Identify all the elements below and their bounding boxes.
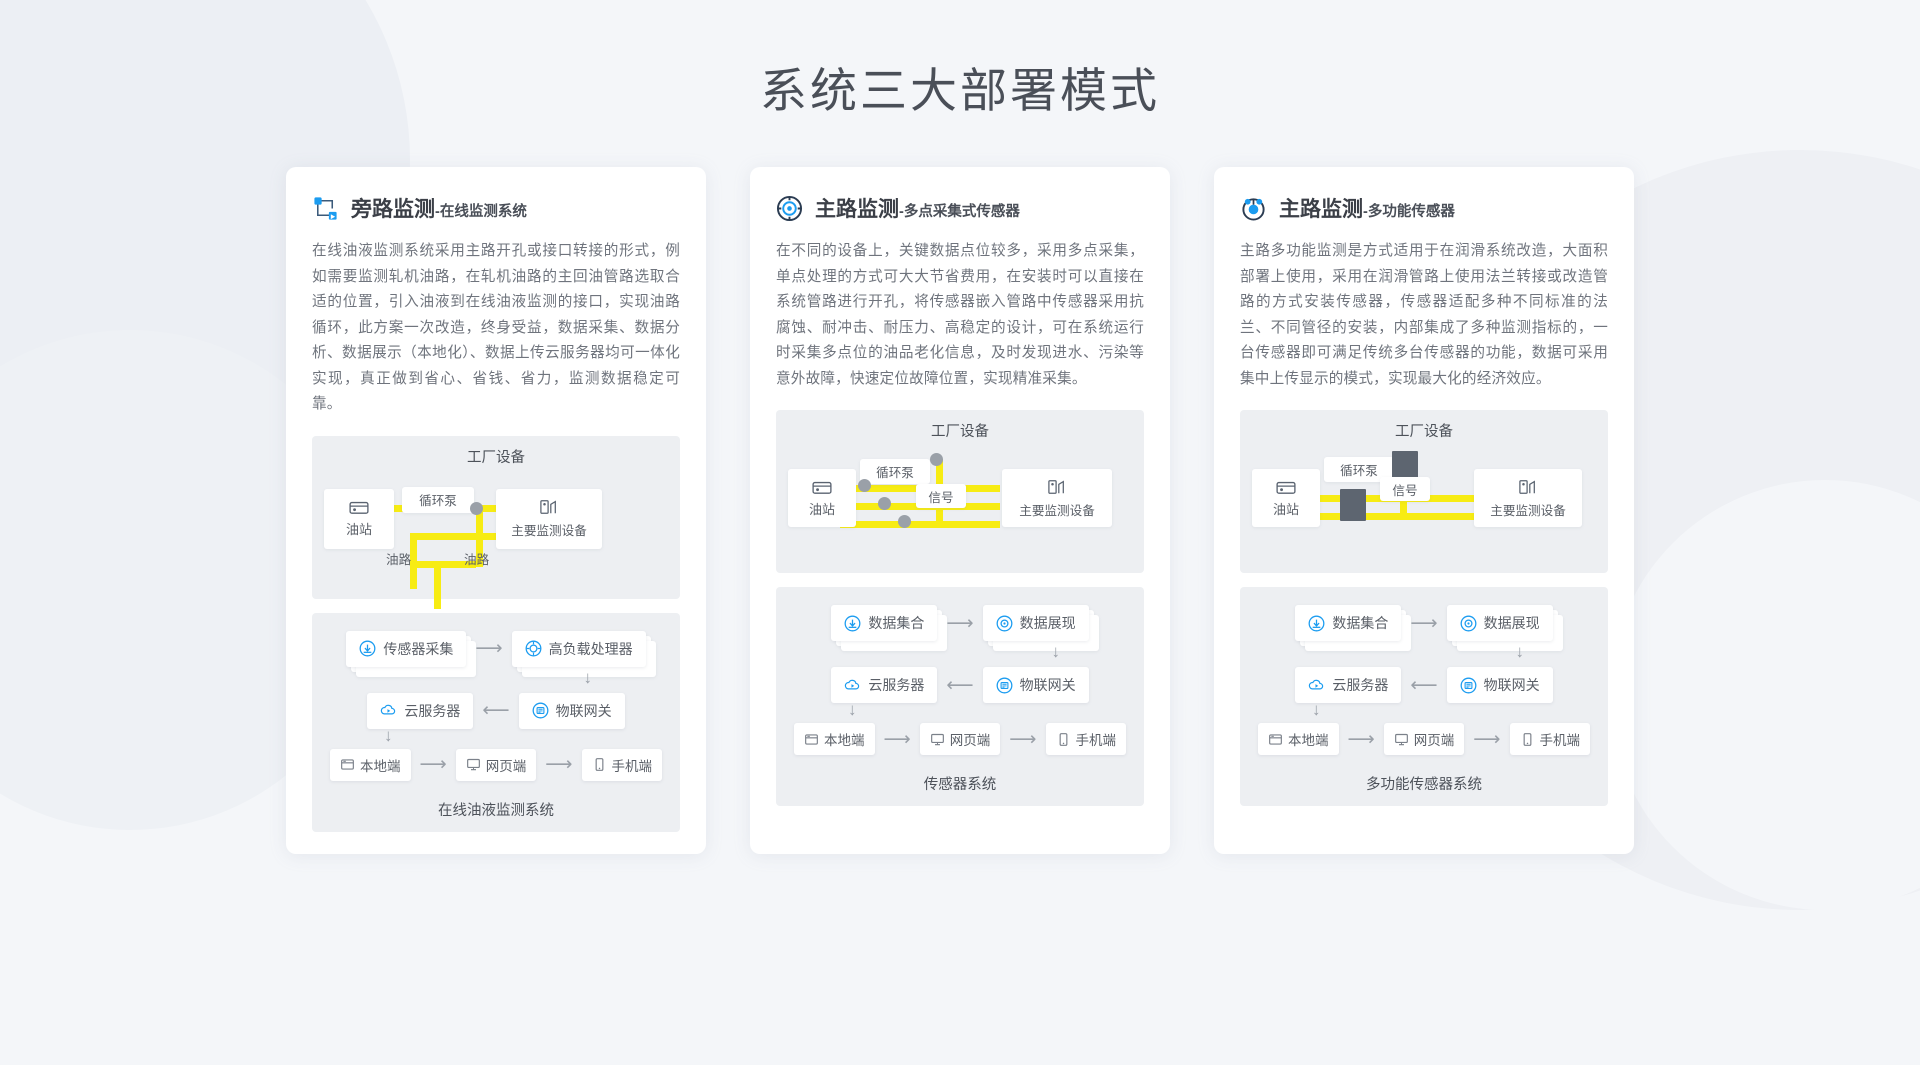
oil-station-icon: [1275, 479, 1297, 495]
flow-node-processor[interactable]: 高负载处理器: [512, 631, 646, 667]
web-terminal-icon: [466, 757, 481, 772]
flow-row-1: 数据集合 ⟶ 数据展现: [790, 605, 1130, 641]
oil-route-label-left: 油路: [386, 549, 411, 568]
web-terminal-icon: [1394, 732, 1409, 747]
arrow-left-icon: ⟵: [473, 701, 518, 720]
flow-node-label: 物联网关: [556, 701, 612, 721]
mobile-terminal-icon: [1520, 732, 1535, 747]
flow-row-2: ↓ 云服务器 ⟵: [790, 667, 1130, 703]
flow-row-1: 数据集合 ⟶ 数据展现: [1254, 605, 1594, 641]
oil-pipe-bottom: [1304, 513, 1482, 520]
card-description: 在线油液监测系统采用主路开孔或接口转接的形式，例如需要监测轧机油路，在轧机油路的…: [312, 239, 680, 418]
terminal-local[interactable]: 本地端: [1258, 723, 1339, 755]
arrow-left-icon: ⟵: [1401, 676, 1446, 695]
multifunction-sensor-icon: [1240, 195, 1267, 222]
oil-route-label-right: 油路: [464, 549, 489, 568]
flow-row-3: ↓ 本地端 ⟶: [1254, 723, 1594, 755]
flow-node-label: 云服务器: [868, 675, 924, 695]
card-title-sub: -在线监测系统: [435, 200, 527, 221]
flow-node-data-collect[interactable]: 数据集合: [831, 605, 937, 641]
pipe-sensor-dot: [898, 515, 911, 528]
circulation-pump-box[interactable]: 循环泵: [402, 487, 474, 513]
arrow-down-icon: ↓: [848, 701, 857, 718]
flow-node-data-display[interactable]: 数据展现: [1447, 605, 1553, 641]
flow-diagram: 数据集合 ⟶ 数据展现 ↓: [1240, 587, 1608, 806]
mobile-terminal-icon: [1056, 732, 1071, 747]
card-description: 在不同的设备上，关键数据点位较多，采用多点采集，单点处理的方式可大大节省费用，在…: [776, 239, 1144, 392]
flow-node-label: 传感器采集: [383, 639, 453, 659]
card-title: 旁路监测 -在线监测系统: [351, 193, 527, 223]
oil-station-label: 油站: [1273, 499, 1299, 518]
flow-row-3: ↓ 本地端 ⟶: [790, 723, 1130, 755]
arrow-down-icon: ↓: [1516, 643, 1525, 660]
factory-diagram: 工厂设备 油站 循环泵: [1240, 410, 1608, 573]
flow-node-data-collect[interactable]: 数据集合: [1295, 605, 1401, 641]
factory-label: 工厂设备: [1252, 420, 1596, 441]
flow-node-label: 物联网关: [1484, 675, 1540, 695]
terminal-mobile[interactable]: 手机端: [1510, 723, 1591, 755]
oil-station-box[interactable]: 油站: [324, 489, 394, 549]
flow-node-sensor-collect[interactable]: 传感器采集: [346, 631, 466, 667]
card-title-main: 旁路监测: [351, 193, 435, 223]
data-display-icon: [996, 615, 1013, 632]
oil-station-icon: [811, 479, 833, 495]
flow-node-label: 数据展现: [1020, 613, 1076, 633]
terminal-mobile[interactable]: 手机端: [582, 749, 663, 781]
circulation-pump-label: 循环泵: [876, 462, 914, 481]
main-monitor-device-label: 主要监测设备: [1019, 500, 1095, 519]
card-title-main: 主路监测: [1279, 193, 1363, 223]
flow-node-cloud-server[interactable]: 云服务器: [831, 667, 937, 703]
flow-node-label: 数据集合: [868, 613, 924, 633]
flow-node-label: 高负载处理器: [549, 639, 633, 659]
system-name: 传感器系统: [790, 773, 1130, 794]
multifunction-sensor-block: [1340, 489, 1366, 521]
pipe-sensor-dot: [878, 497, 891, 510]
card-bypass-monitoring[interactable]: 旁路监测 -在线监测系统 在线油液监测系统采用主路开孔或接口转接的形式，例如需要…: [286, 167, 706, 854]
local-terminal-icon: [1268, 732, 1283, 747]
arrow-down-icon: ↓: [1052, 643, 1061, 660]
factory-canvas: 油站 循环泵 主要监测设备 油路: [324, 477, 668, 585]
main-monitor-device-box[interactable]: 主要监测设备: [1474, 469, 1582, 527]
terminal-label: 本地端: [360, 755, 401, 775]
flow-node-label: 数据展现: [1484, 613, 1540, 633]
arrow-right-icon: ⟶: [1401, 614, 1446, 633]
flow-diagram: 传感器采集 ⟶ 高负载处理器 ↓: [312, 613, 680, 832]
arrow-right-icon: ⟶: [536, 755, 581, 774]
card-title: 主路监测 -多点采集式传感器: [815, 193, 1020, 223]
card-mainline-multifunction[interactable]: 主路监测 -多功能传感器 主路多功能监测是方式适用于在润滑系统改造，大面积部署上…: [1214, 167, 1634, 854]
sensor-collect-icon: [359, 640, 376, 657]
monitor-device-icon: [1046, 478, 1068, 496]
factory-label: 工厂设备: [788, 420, 1132, 441]
circulation-pump-label: 循环泵: [419, 490, 457, 509]
page-title: 系统三大部署模式: [0, 0, 1920, 121]
signal-box[interactable]: 信号: [916, 484, 966, 508]
terminal-label: 手机端: [612, 755, 653, 775]
terminal-label: 手机端: [1076, 729, 1117, 749]
local-terminal-icon: [804, 732, 819, 747]
card-mainline-multipoint[interactable]: 主路监测 -多点采集式传感器 在不同的设备上，关键数据点位较多，采用多点采集，单…: [750, 167, 1170, 854]
flow-node-label: 云服务器: [404, 701, 460, 721]
card-description: 主路多功能监测是方式适用于在润滑系统改造，大面积部署上使用，采用在润滑管路上使用…: [1240, 239, 1608, 392]
oil-station-icon: [348, 499, 370, 515]
terminal-local[interactable]: 本地端: [794, 723, 875, 755]
data-display-icon: [1460, 615, 1477, 632]
main-monitor-device-box[interactable]: 主要监测设备: [496, 489, 602, 549]
flow-diagram: 数据集合 ⟶ 数据展现 ↓: [776, 587, 1144, 806]
system-name: 在线油液监测系统: [326, 799, 666, 820]
terminal-web[interactable]: 网页端: [920, 723, 1001, 755]
card-title-sub: -多点采集式传感器: [899, 200, 1020, 221]
oil-station-box[interactable]: 油站: [788, 469, 856, 527]
system-name: 多功能传感器系统: [1254, 773, 1594, 794]
mobile-terminal-icon: [592, 757, 607, 772]
pipe-sensor-dot: [930, 453, 943, 466]
oil-station-box[interactable]: 油站: [1252, 469, 1320, 527]
main-monitor-device-label: 主要监测设备: [1490, 500, 1566, 519]
flow-row-2: ↓ 云服务器 ⟵: [326, 693, 666, 729]
circulation-pump-box[interactable]: 循环泵: [860, 459, 930, 484]
card-header: 主路监测 -多功能传感器: [1240, 193, 1608, 223]
main-monitor-device-box[interactable]: 主要监测设备: [1002, 469, 1112, 527]
circulation-pump-label: 循环泵: [1340, 460, 1378, 479]
flow-node-iot-gateway[interactable]: 物联网关: [1447, 667, 1553, 703]
cards-container: 旁路监测 -在线监测系统 在线油液监测系统采用主路开孔或接口转接的形式，例如需要…: [0, 167, 1920, 854]
factory-canvas: 油站 循环泵 信号 主要监测设备: [788, 451, 1132, 559]
arrow-right-icon: ⟶: [466, 639, 511, 658]
terminal-mobile[interactable]: 手机端: [1046, 723, 1127, 755]
arrow-down-icon: ↓: [384, 727, 393, 744]
factory-canvas: 油站 循环泵 信号 主要监测设备: [1252, 451, 1596, 559]
terminal-label: 网页端: [1414, 729, 1455, 749]
terminal-web[interactable]: 网页端: [456, 749, 537, 781]
arrow-right-icon: ⟶: [1000, 730, 1045, 749]
flow-node-iot-gateway[interactable]: 物联网关: [983, 667, 1089, 703]
cloud-server-icon: [1308, 677, 1325, 694]
factory-label: 工厂设备: [324, 446, 668, 467]
flow-node-cloud-server[interactable]: 云服务器: [367, 693, 473, 729]
card-title-sub: -多功能传感器: [1363, 200, 1455, 221]
terminal-local[interactable]: 本地端: [330, 749, 411, 781]
signal-box[interactable]: 信号: [1380, 477, 1430, 501]
oil-station-label: 油站: [346, 519, 372, 538]
monitor-device-icon: [1517, 478, 1539, 496]
arrow-left-icon: ⟵: [937, 676, 982, 695]
terminal-label: 手机端: [1540, 729, 1581, 749]
terminal-label: 网页端: [950, 729, 991, 749]
factory-diagram: 工厂设备 油站 循环泵: [776, 410, 1144, 573]
signal-label: 信号: [1392, 480, 1417, 499]
pipe-sensor-dot: [858, 479, 871, 492]
arrow-down-icon: ↓: [1312, 701, 1321, 718]
cloud-server-icon: [844, 677, 861, 694]
card-header: 主路监测 -多点采集式传感器: [776, 193, 1144, 223]
data-collect-icon: [1308, 615, 1325, 632]
flow-row-3: ↓ 本地端 ⟶: [326, 749, 666, 781]
data-collect-icon: [844, 615, 861, 632]
main-monitor-device-label: 主要监测设备: [511, 520, 587, 539]
iot-gateway-icon: [532, 702, 549, 719]
target-circle-icon: [776, 195, 803, 222]
signal-label: 信号: [928, 487, 953, 506]
terminal-label: 网页端: [486, 755, 527, 775]
card-header: 旁路监测 -在线监测系统: [312, 193, 680, 223]
card-title-main: 主路监测: [815, 193, 899, 223]
flow-node-iot-gateway[interactable]: 物联网关: [519, 693, 625, 729]
factory-diagram: 工厂设备 油站: [312, 436, 680, 599]
flow-node-label: 云服务器: [1332, 675, 1388, 695]
arrow-right-icon: ⟶: [937, 614, 982, 633]
oil-station-label: 油站: [809, 499, 835, 518]
local-terminal-icon: [340, 757, 355, 772]
flow-row-2: ↓ 云服务器 ⟵: [1254, 667, 1594, 703]
arrow-right-icon: ⟶: [875, 730, 920, 749]
arrow-right-icon: ⟶: [1339, 730, 1384, 749]
flow-node-label: 数据集合: [1332, 613, 1388, 633]
terminal-label: 本地端: [824, 729, 865, 749]
page-root: 系统三大部署模式 旁路监测 -在线监测系统 在线油液监测系统采用主路开孔或接口转…: [0, 0, 1920, 1065]
iot-gateway-icon: [1460, 677, 1477, 694]
bypass-branch-icon: [312, 195, 339, 222]
monitor-device-icon: [538, 498, 560, 516]
iot-gateway-icon: [996, 677, 1013, 694]
arrow-right-icon: ⟶: [1464, 730, 1509, 749]
cloud-server-icon: [380, 702, 397, 719]
pipe-junction-dot: [470, 502, 483, 515]
terminal-web[interactable]: 网页端: [1384, 723, 1465, 755]
oil-pipe-bottom: [840, 521, 1000, 528]
flow-node-label: 物联网关: [1020, 675, 1076, 695]
oil-pipe-return: [434, 561, 441, 609]
arrow-down-icon: ↓: [584, 669, 593, 686]
processor-icon: [525, 640, 542, 657]
web-terminal-icon: [930, 732, 945, 747]
terminal-label: 本地端: [1288, 729, 1329, 749]
flow-node-data-display[interactable]: 数据展现: [983, 605, 1089, 641]
flow-row-1: 传感器采集 ⟶ 高负载处理器: [326, 631, 666, 667]
arrow-right-icon: ⟶: [411, 755, 456, 774]
flow-node-cloud-server[interactable]: 云服务器: [1295, 667, 1401, 703]
card-title: 主路监测 -多功能传感器: [1279, 193, 1455, 223]
